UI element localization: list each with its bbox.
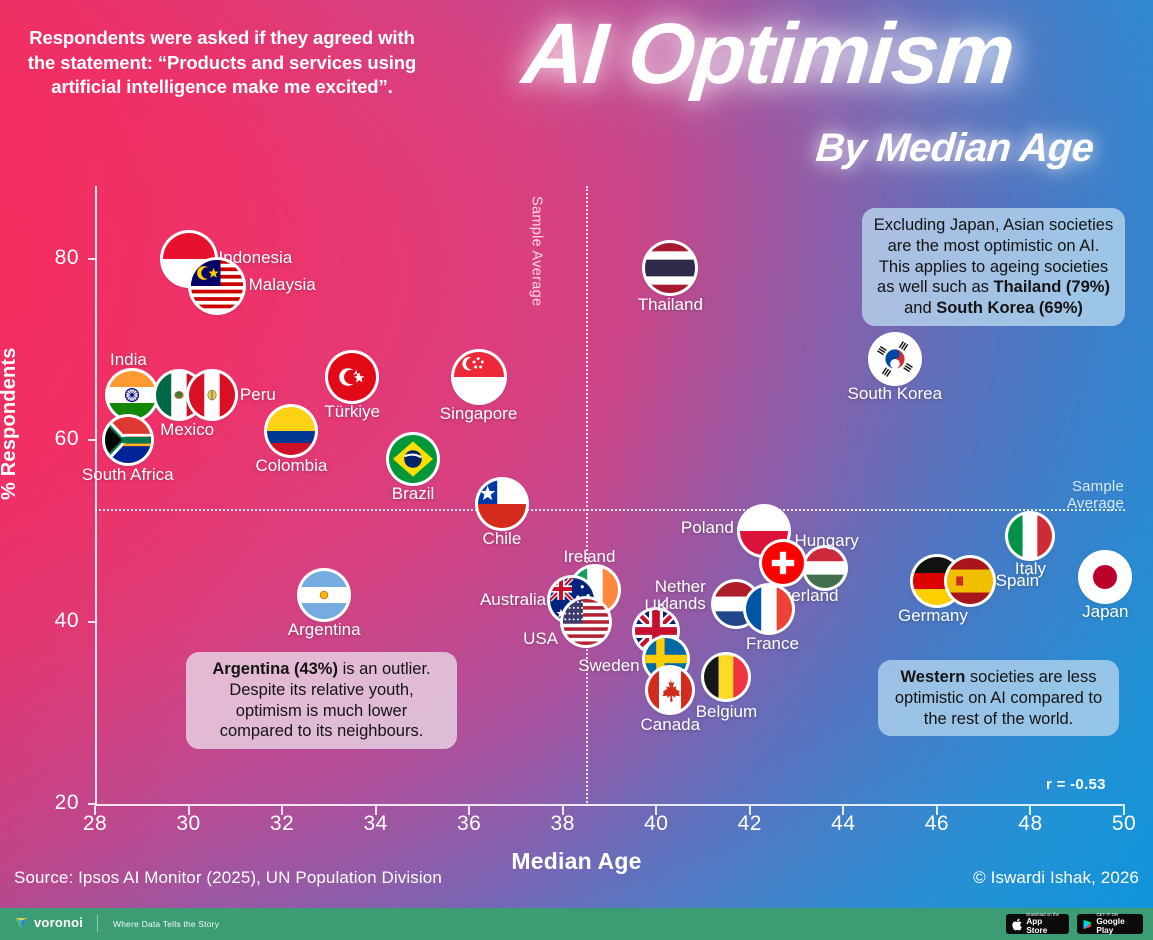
flag-tr-icon xyxy=(328,353,376,401)
voronoi-wordmark: voronoi xyxy=(34,915,83,930)
point-label: Argentina xyxy=(288,621,361,638)
source-text: Source: Ipsos AI Monitor (2025), UN Popu… xyxy=(14,868,442,888)
infographic-root: Respondents were asked if they agreed wi… xyxy=(0,0,1153,940)
point-label: Türkiye xyxy=(324,403,380,420)
flag-jp-icon xyxy=(1081,553,1129,601)
point-label: France xyxy=(746,635,799,652)
y-axis-line xyxy=(95,186,97,806)
y-tick xyxy=(88,258,97,260)
footer-bar: voronoi Where Data Tells the Story Downl… xyxy=(0,908,1153,940)
y-tick-label: 80 xyxy=(55,246,79,270)
point-label: Hungary xyxy=(795,532,859,549)
x-axis-line xyxy=(95,804,1125,806)
point-label: India xyxy=(110,351,147,368)
sample-average-vertical-label: Sample Average xyxy=(528,196,544,306)
flag-za-icon xyxy=(105,417,151,463)
point-label: Germany xyxy=(898,607,968,624)
x-tick-label: 36 xyxy=(457,812,481,836)
credit-text: © Iswardi Ishak, 2026 xyxy=(973,868,1139,888)
voronoi-mark-icon xyxy=(14,915,29,930)
footer-divider xyxy=(97,915,98,932)
google-play-big-label: Google Play xyxy=(1096,918,1137,934)
x-tick-label: 42 xyxy=(738,812,762,836)
callout-western: Western societies are less optimistic on… xyxy=(878,660,1119,736)
point-label: Canada xyxy=(641,716,701,733)
y-tick xyxy=(88,439,97,441)
x-tick-label: 44 xyxy=(831,812,855,836)
flag-my-icon xyxy=(191,260,243,312)
google-play-badge[interactable]: GET IT ON Google Play xyxy=(1077,914,1143,934)
sample-average-vertical-line xyxy=(586,186,588,806)
point-label: Sweden xyxy=(578,657,639,674)
y-tick xyxy=(88,803,97,805)
sample-average-horizontal-label: Sample Average xyxy=(1040,478,1124,513)
google-play-icon xyxy=(1083,918,1092,931)
point-label: Peru xyxy=(240,386,276,403)
point-label: Mexico xyxy=(160,421,214,438)
point-label: Ireland xyxy=(563,548,615,565)
callout-asia: Excluding Japan, Asian societies are the… xyxy=(862,208,1125,326)
point-label: Singapore xyxy=(440,405,518,422)
x-tick-label: 28 xyxy=(83,812,107,836)
flag-sg-icon xyxy=(454,352,504,402)
intro-text: Respondents were asked if they agreed wi… xyxy=(22,26,422,100)
y-tick-label: 60 xyxy=(55,427,79,451)
point-label: Colombia xyxy=(256,457,328,474)
x-tick-label: 38 xyxy=(551,812,575,836)
x-tick-label: 32 xyxy=(270,812,294,836)
apple-icon xyxy=(1012,918,1022,931)
point-label: Poland xyxy=(681,519,734,536)
point-label: UK xyxy=(644,597,668,614)
footer-tagline: Where Data Tells the Story xyxy=(113,919,219,929)
y-tick-label: 40 xyxy=(55,609,79,633)
x-tick-label: 46 xyxy=(925,812,949,836)
point-label: Brazil xyxy=(392,485,435,502)
app-store-badge[interactable]: Download on the App Store xyxy=(1006,914,1069,934)
flag-ar-icon xyxy=(300,571,348,619)
point-label: South Korea xyxy=(848,385,943,402)
x-tick-label: 48 xyxy=(1018,812,1042,836)
point-label: USA xyxy=(523,630,558,647)
sample-average-horizontal-line xyxy=(95,509,1125,511)
app-store-big-label: App Store xyxy=(1026,918,1063,934)
page-title: AI Optimism xyxy=(519,14,1016,96)
point-label: Spain xyxy=(996,572,1039,589)
x-tick-label: 30 xyxy=(176,812,200,836)
point-label: Japan xyxy=(1082,603,1128,620)
flag-be-icon xyxy=(704,655,748,699)
point-label: South Africa xyxy=(82,466,174,483)
callout-argentina: Argentina (43%) is an outlier. Despite i… xyxy=(186,652,457,749)
flag-th-icon xyxy=(645,243,695,293)
point-label: Malaysia xyxy=(249,276,316,293)
point-label: Belgium xyxy=(696,703,757,720)
correlation-value: r = -0.53 xyxy=(1046,776,1106,793)
y-tick xyxy=(88,621,97,623)
flag-pe-icon xyxy=(189,372,235,418)
flag-hu-icon xyxy=(805,548,845,588)
x-tick-label: 50 xyxy=(1112,812,1136,836)
flag-ch-icon xyxy=(762,542,804,584)
flag-fr-icon xyxy=(746,586,792,632)
voronoi-logo[interactable]: voronoi xyxy=(14,915,83,930)
page-subtitle: By Median Age xyxy=(814,126,1095,171)
flag-kr-icon xyxy=(871,335,919,383)
x-tick-label: 34 xyxy=(363,812,387,836)
point-label: Australia xyxy=(480,591,546,608)
x-tick-label: 40 xyxy=(644,812,668,836)
flag-es-icon xyxy=(947,558,993,604)
point-label: Thailand xyxy=(638,296,703,313)
y-axis-label: % Respondents xyxy=(0,347,21,500)
flag-cl-icon xyxy=(478,480,526,528)
y-tick-label: 20 xyxy=(55,791,79,815)
flag-br-icon xyxy=(389,435,437,483)
point-label: Chile xyxy=(483,530,522,547)
